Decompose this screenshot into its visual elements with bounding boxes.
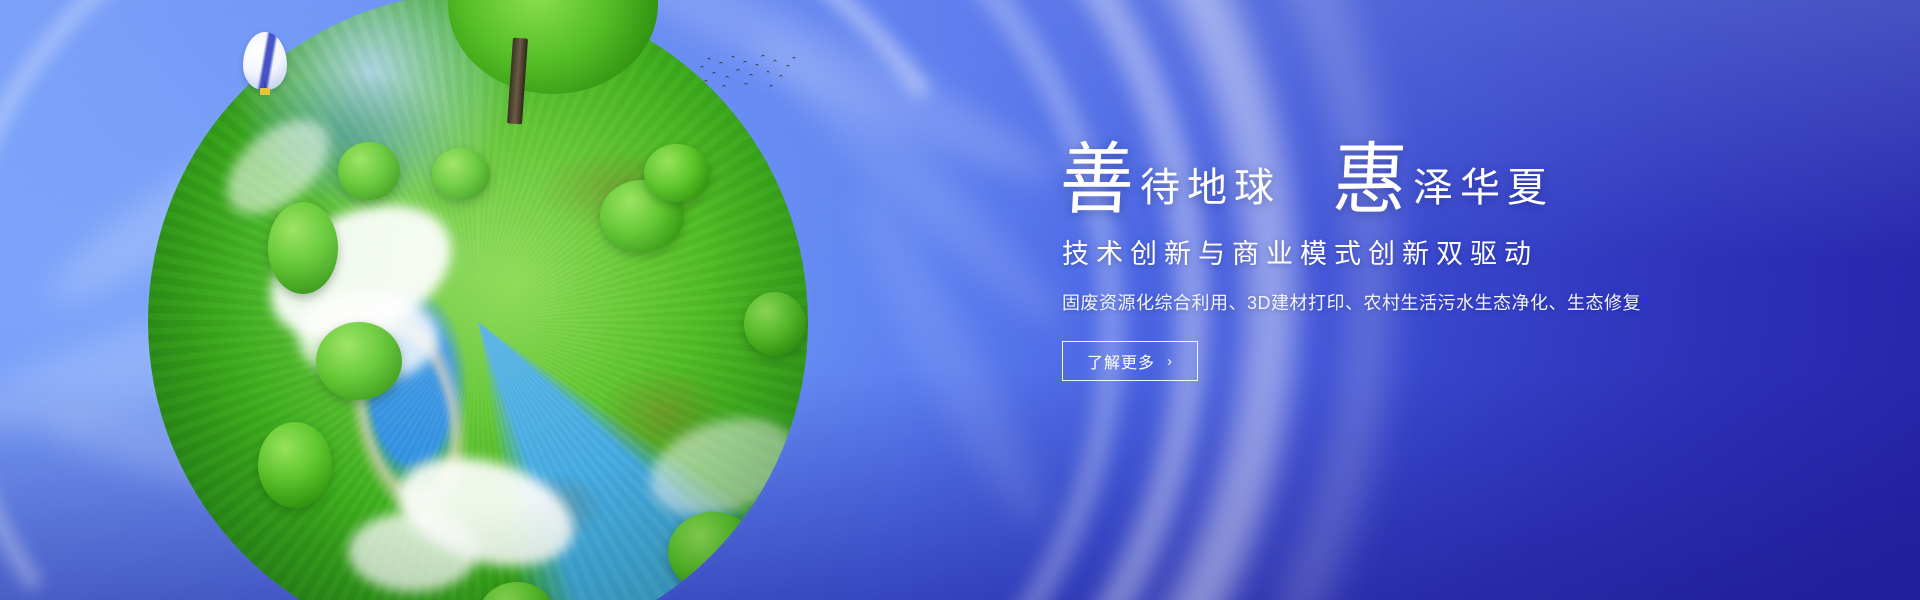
bush-icon xyxy=(432,148,490,200)
planet-cloud-icon xyxy=(386,439,587,585)
learn-more-label: 了解更多 xyxy=(1087,349,1155,373)
bush-icon xyxy=(268,202,338,294)
headline-char-hui: 惠 xyxy=(1331,143,1409,218)
hero-subtitle: 技术创新与商业模式创新双驱动 xyxy=(1062,232,1760,271)
bush-icon xyxy=(744,292,806,356)
bush-icon xyxy=(258,422,332,508)
bush-icon xyxy=(316,322,402,400)
balloon-basket xyxy=(260,88,270,95)
lake-shoreline xyxy=(324,282,491,542)
planet-cloud-icon xyxy=(250,179,472,366)
chevron-right-icon: › xyxy=(1167,354,1173,369)
bird-flock-icon xyxy=(698,52,798,94)
bush-icon xyxy=(668,512,758,592)
hero-content: 善 待地球 惠 泽华夏 技术创新与商业模式创新双驱动 固废资源化综合利用、3D建… xyxy=(1060,132,1760,381)
bush-icon xyxy=(338,142,400,200)
hero-description: 固废资源化综合利用、3D建材打印、农村生活污水生态净化、生态修复 xyxy=(1062,289,1760,315)
hero-banner: 善 待地球 惠 泽华夏 技术创新与商业模式创新双驱动 固废资源化综合利用、3D建… xyxy=(0,0,1920,600)
headline-text-daidiqiu: 待地球 xyxy=(1140,168,1281,216)
bush-icon xyxy=(478,582,556,600)
learn-more-button[interactable]: 了解更多 › xyxy=(1062,341,1198,381)
planet-cloud-icon xyxy=(298,292,438,382)
planet-cloud-icon xyxy=(348,512,478,592)
hot-air-balloon-icon xyxy=(243,32,287,90)
headline-char-shan: 善 xyxy=(1058,143,1136,218)
bush-icon xyxy=(644,144,710,202)
bush-icon xyxy=(600,180,684,252)
planet-cloud-icon xyxy=(210,102,347,233)
headline-text-zehuaxia: 泽华夏 xyxy=(1413,168,1554,216)
hero-headline: 善 待地球 惠 泽华夏 xyxy=(1060,132,1760,216)
